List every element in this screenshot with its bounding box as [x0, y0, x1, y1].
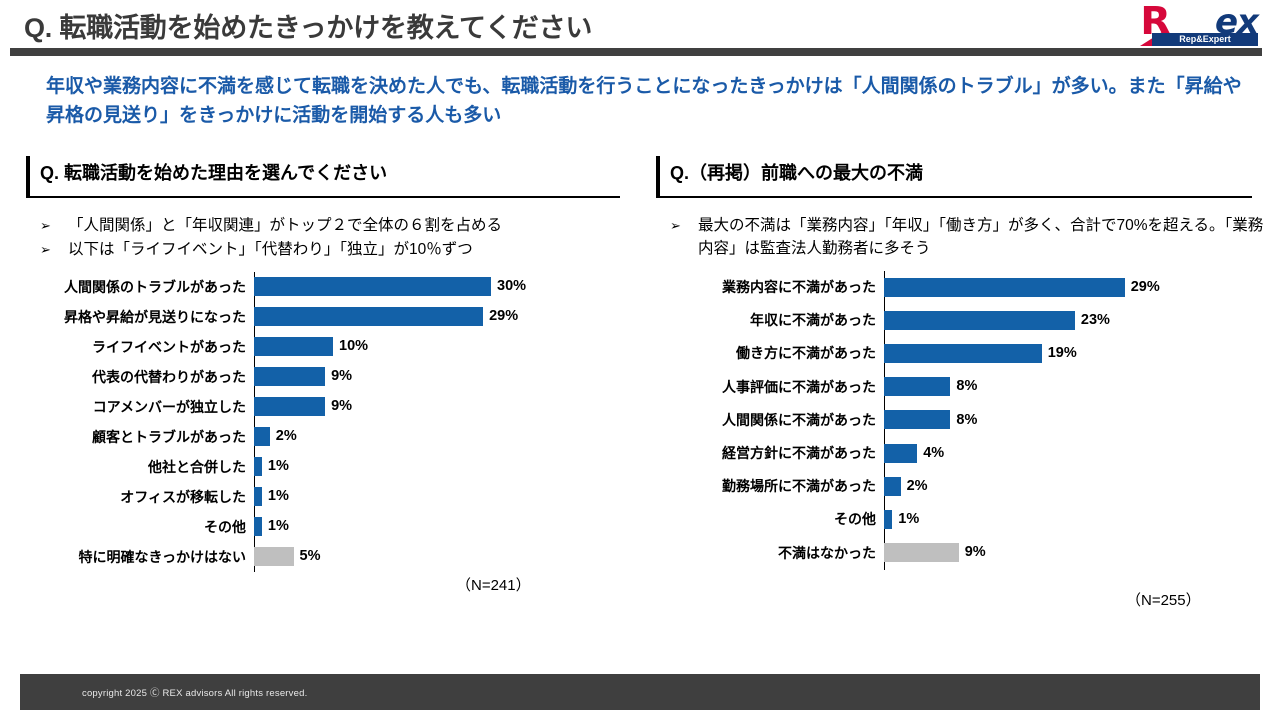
chart-bar-label: 人間関係に不満があった [656, 413, 884, 427]
chart-bar-value: 10% [339, 339, 368, 354]
chart-bar-row: その他1% [26, 512, 626, 542]
chart-right: 業務内容に不満があった29%年収に不満があった23%働き方に不満があった19%人… [656, 271, 1266, 570]
chart-bar-label: 働き方に不満があった [656, 346, 884, 360]
chart-bar-label: その他 [26, 520, 254, 534]
panel-right: Q.（再掲）前職への最大の不満 ➢ 最大の不満は「業務内容」「年収」「働き方」が… [656, 156, 1266, 569]
arrow-bullet-icon: ➢ [670, 214, 698, 261]
slide-subtitle: 年収や業務内容に不満を感じて転職を決めた人でも、転職活動を行うことになったきっか… [46, 72, 1246, 131]
chart-bar-track: 23% [884, 311, 1266, 330]
chart-bar-value: 19% [1048, 346, 1077, 361]
chart-bar-track: 1% [254, 457, 626, 476]
chart-bar-value: 1% [268, 519, 289, 534]
chart-bar [884, 477, 901, 496]
chart-bar-row: 業務内容に不満があった29% [656, 271, 1266, 304]
footer-bar: copyright 2025 Ⓒ REX advisors All rights… [20, 674, 1260, 710]
panel-right-heading-rule [656, 196, 1252, 198]
chart-bar-value: 9% [331, 399, 352, 414]
chart-bar [884, 311, 1075, 330]
chart-bar-value: 30% [497, 279, 526, 294]
chart-bar [254, 397, 325, 416]
chart-bar-value: 8% [956, 379, 977, 394]
panel-left-heading-rule [26, 196, 620, 198]
chart-bar [254, 367, 325, 386]
logo-tagline: Rep&Expert [1179, 35, 1231, 44]
chart-bar-row: その他1% [656, 503, 1266, 536]
chart-bar-label: 特に明確なきっかけはない [26, 550, 254, 564]
chart-bar [254, 427, 270, 446]
arrow-bullet-icon: ➢ [40, 238, 68, 261]
chart-bar-label: 代表の代替わりがあった [26, 370, 254, 384]
chart-bar [254, 337, 333, 356]
logo-mark: R ex Rep&Expert [1106, 5, 1266, 37]
chart-bar-label: 年収に不満があった [656, 313, 884, 327]
panel-left-heading: Q. 転職活動を始めた理由を選んでください [40, 156, 626, 190]
chart-bar-label: 人事評価に不満があった [656, 380, 884, 394]
chart-bar-track: 4% [884, 444, 1266, 463]
chart-bar-track: 5% [254, 547, 626, 566]
chart-left-sample-size: （N=241） [456, 574, 531, 595]
chart-bar-track: 2% [254, 427, 626, 446]
chart-bar [254, 307, 483, 326]
header-divider [10, 48, 1262, 56]
chart-right-sample-size: （N=255） [1126, 589, 1201, 610]
chart-bar [884, 344, 1042, 363]
chart-bar [254, 547, 294, 566]
chart-bar-row: 不満はなかった9% [656, 536, 1266, 569]
chart-right-rows: 業務内容に不満があった29%年収に不満があった23%働き方に不満があった19%人… [656, 271, 1266, 570]
chart-bar [884, 377, 950, 396]
bullet-item: ➢ 最大の不満は「業務内容」「年収」「働き方」が多く、合計で70%を超える。「業… [670, 214, 1266, 261]
footer-copyright: copyright 2025 Ⓒ REX advisors All rights… [82, 685, 307, 699]
chart-bar-track: 10% [254, 337, 626, 356]
chart-bar-label: 経営方針に不満があった [656, 446, 884, 460]
chart-bar-value: 1% [268, 459, 289, 474]
bullet-text: 最大の不満は「業務内容」「年収」「働き方」が多く、合計で70%を超える。「業務内… [698, 214, 1266, 261]
logo-tagline-bar: Rep&Expert [1152, 33, 1258, 46]
rex-logo: R ex Rep&Expert [1106, 5, 1266, 47]
chart-bar [254, 517, 262, 536]
chart-left-rows: 人間関係のトラブルがあった30%昇格や昇給が見送りになった29%ライフイベントが… [26, 272, 626, 572]
panel-right-heading: Q.（再掲）前職への最大の不満 [670, 156, 1266, 190]
bullet-text: 「人間関係」と「年収関連」がトップ２で全体の６割を占める [68, 214, 626, 237]
bullet-item: ➢ 以下は「ライフイベント」「代替わり」「独立」が10％ずつ [40, 238, 626, 261]
chart-bar-label: ライフイベントがあった [26, 340, 254, 354]
panel-left: Q. 転職活動を始めた理由を選んでください ➢ 「人間関係」と「年収関連」がトッ… [26, 156, 626, 572]
chart-bar-value: 2% [276, 429, 297, 444]
chart-bar-value: 2% [907, 479, 928, 494]
panel-left-bullets: ➢ 「人間関係」と「年収関連」がトップ２で全体の６割を占める ➢ 以下は「ライフ… [26, 214, 626, 262]
panel-left-header: Q. 転職活動を始めた理由を選んでください [26, 156, 626, 202]
chart-bar-track: 2% [884, 477, 1266, 496]
slide-root: Q. 転職活動を始めたきっかけを教えてください R ex Rep&Expert … [0, 0, 1280, 720]
chart-bar [254, 487, 262, 506]
chart-bar-value: 9% [965, 545, 986, 560]
panel-right-header: Q.（再掲）前職への最大の不満 [656, 156, 1266, 202]
chart-bar [884, 278, 1125, 297]
chart-bar-label: その他 [656, 512, 884, 526]
chart-bar-value: 8% [956, 413, 977, 428]
chart-bar-row: 特に明確なきっかけはない5% [26, 542, 626, 572]
chart-bar-row: オフィスが移転した1% [26, 482, 626, 512]
chart-bar-label: 不満はなかった [656, 546, 884, 560]
page-title: Q. 転職活動を始めたきっかけを教えてください [24, 6, 592, 45]
chart-bar-track: 8% [884, 410, 1266, 429]
chart-bar [884, 410, 950, 429]
chart-bar-value: 1% [268, 489, 289, 504]
chart-bar-track: 29% [254, 307, 626, 326]
chart-bar-row: 人間関係に不満があった8% [656, 403, 1266, 436]
chart-bar-track: 8% [884, 377, 1266, 396]
chart-bar-row: 人事評価に不満があった8% [656, 370, 1266, 403]
chart-bar-row: 他社と合併した1% [26, 452, 626, 482]
chart-bar-label: オフィスが移転した [26, 490, 254, 504]
chart-bar-track: 9% [884, 543, 1266, 562]
chart-bar-value: 23% [1081, 313, 1110, 328]
chart-bar-track: 1% [254, 517, 626, 536]
chart-bar-row: 働き方に不満があった19% [656, 337, 1266, 370]
chart-bar-label: コアメンバーが独立した [26, 400, 254, 414]
chart-bar-value: 29% [489, 309, 518, 324]
chart-bar-value: 5% [300, 549, 321, 564]
chart-bar-track: 30% [254, 277, 626, 296]
chart-bar-label: 他社と合併した [26, 460, 254, 474]
chart-bar-label: 昇格や昇給が見送りになった [26, 310, 254, 324]
chart-bar [884, 543, 959, 562]
arrow-bullet-icon: ➢ [40, 214, 68, 237]
chart-bar-row: コアメンバーが独立した9% [26, 392, 626, 422]
chart-bar-row: 代表の代替わりがあった9% [26, 362, 626, 392]
chart-bar-value: 29% [1131, 280, 1160, 295]
chart-bar-track: 9% [254, 397, 626, 416]
chart-bar-track: 29% [884, 278, 1266, 297]
chart-bar [254, 457, 262, 476]
chart-bar-value: 4% [923, 446, 944, 461]
chart-bar [884, 510, 892, 529]
chart-bar-value: 9% [331, 369, 352, 384]
bullet-text: 以下は「ライフイベント」「代替わり」「独立」が10％ずつ [68, 238, 626, 261]
chart-bar-row: 人間関係のトラブルがあった30% [26, 272, 626, 302]
chart-bar [254, 277, 491, 296]
panel-right-bullets: ➢ 最大の不満は「業務内容」「年収」「働き方」が多く、合計で70%を超える。「業… [656, 214, 1266, 261]
chart-bar-track: 9% [254, 367, 626, 386]
chart-bar-label: 勤務場所に不満があった [656, 479, 884, 493]
chart-bar-row: 年収に不満があった23% [656, 304, 1266, 337]
chart-bar-label: 人間関係のトラブルがあった [26, 280, 254, 294]
chart-bar-track: 1% [884, 510, 1266, 529]
chart-bar-row: 経営方針に不満があった4% [656, 436, 1266, 469]
chart-bar-track: 19% [884, 344, 1266, 363]
chart-bar-label: 業務内容に不満があった [656, 280, 884, 294]
chart-bar-value: 1% [898, 512, 919, 527]
chart-bar [884, 444, 917, 463]
chart-bar-row: 昇格や昇給が見送りになった29% [26, 302, 626, 332]
chart-bar-track: 1% [254, 487, 626, 506]
chart-bar-label: 顧客とトラブルがあった [26, 430, 254, 444]
bullet-item: ➢ 「人間関係」と「年収関連」がトップ２で全体の６割を占める [40, 214, 626, 237]
chart-bar-row: ライフイベントがあった10% [26, 332, 626, 362]
chart-bar-row: 顧客とトラブルがあった2% [26, 422, 626, 452]
chart-bar-row: 勤務場所に不満があった2% [656, 470, 1266, 503]
chart-left: 人間関係のトラブルがあった30%昇格や昇給が見送りになった29%ライフイベントが… [26, 272, 626, 572]
